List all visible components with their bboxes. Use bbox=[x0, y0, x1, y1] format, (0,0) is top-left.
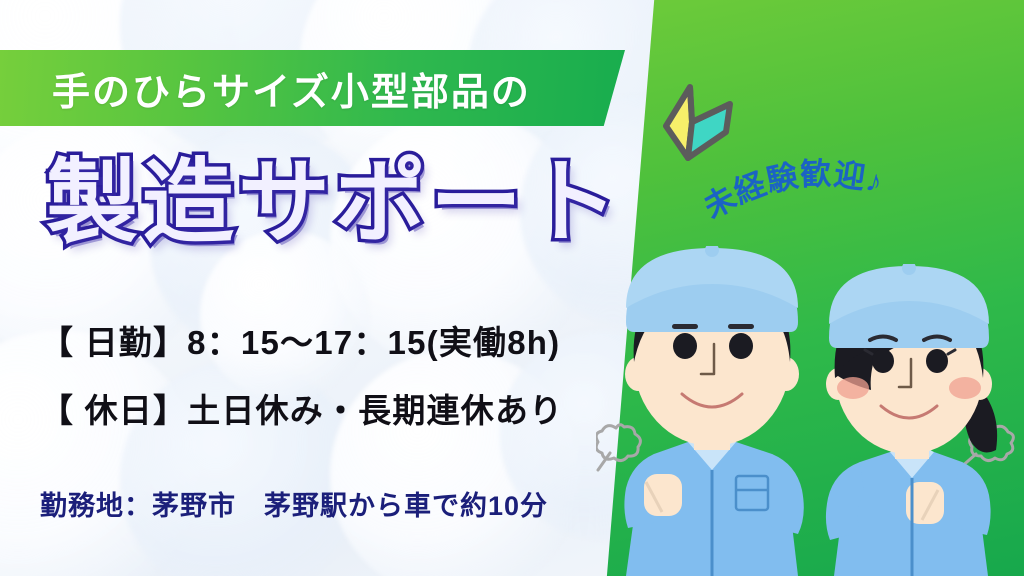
ribbon-label: 手のひらサイズ小型部品の bbox=[52, 61, 531, 116]
welcome-badge: 未経験歓迎♪ bbox=[700, 150, 935, 250]
male-worker-illustration bbox=[596, 246, 828, 576]
location-label: 勤務地：茅野市 茅野駅から車で約10分 bbox=[40, 484, 548, 523]
page-title: 製造サポート bbox=[46, 152, 666, 277]
info-line-work-hours: 【 日勤】8：15〜17：15(実働8h) bbox=[40, 316, 560, 364]
info-line-holidays: 【 休日】土日休み・長期連休あり bbox=[40, 384, 563, 432]
job-advert-banner: 手のひらサイズ小型部品の 製造サポート 【 日勤】8：15〜17：15(実働8h… bbox=[0, 0, 1024, 576]
headline-ribbon: 手のひらサイズ小型部品の bbox=[0, 50, 625, 126]
welcome-badge-label: 未経験歓迎♪ bbox=[700, 156, 888, 225]
title-label: 製造サポート bbox=[46, 152, 666, 255]
female-worker-illustration bbox=[798, 264, 1020, 576]
